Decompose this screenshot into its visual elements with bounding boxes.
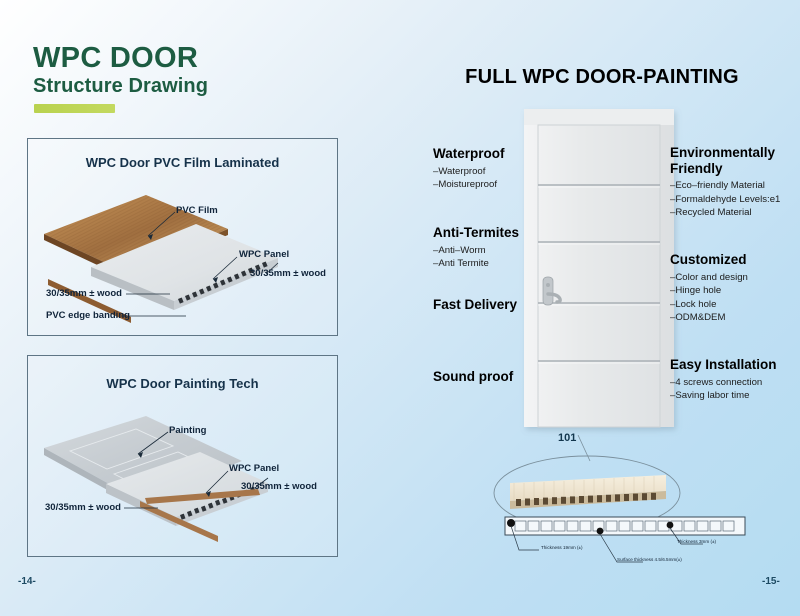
panel-pvc-film-laminated: WPC Door PVC Film Laminated — [27, 138, 338, 336]
feature-fast-delivery: Fast Delivery — [433, 297, 517, 313]
cross-section-strip — [495, 512, 775, 582]
feature-waterproof: Waterproof –Waterproof –Moistureproof — [433, 146, 505, 192]
feature-item: –Saving labor time — [670, 389, 777, 403]
feature-item: –ODM&DEM — [670, 311, 748, 325]
feature-item: –Recycled Material — [670, 206, 780, 220]
feature-item: –Waterproof — [433, 165, 505, 179]
label-thickness-right-2: 30/35mm ± wood — [241, 481, 317, 492]
label-wpc-panel: WPC Panel — [239, 249, 289, 260]
feature-heading: Easy Installation — [670, 357, 777, 373]
feature-item: –Formaldehyde Levels:e1 — [670, 193, 780, 207]
label-thickness-19mm: Thickness 19mm (±) — [541, 545, 583, 550]
label-thickness-left: 30/35mm ± wood — [46, 288, 122, 299]
feature-anti-termites: Anti-Termites –Anti–Worm –Anti Termite — [433, 225, 519, 271]
panel-1-title: WPC Door PVC Film Laminated — [28, 155, 337, 170]
left-page: WPC DOOR Structure Drawing WPC Door PVC … — [0, 0, 400, 616]
page-title-sub: Structure Drawing — [33, 76, 208, 96]
panel-2-title: WPC Door Painting Tech — [28, 376, 337, 391]
right-page: FULL WPC DOOR-PAINTING — [400, 0, 800, 616]
feature-heading: Customized — [670, 252, 748, 268]
feature-easy-installation: Easy Installation –4 screws connection –… — [670, 357, 777, 403]
feature-item: –Anti Termite — [433, 257, 519, 271]
feature-item: –4 screws connection — [670, 376, 777, 390]
label-thickness-left-2: 30/35mm ± wood — [45, 502, 121, 513]
label-wpc-panel-2: WPC Panel — [229, 463, 279, 474]
label-painting: Painting — [169, 425, 206, 436]
feature-item: –Anti–Worm — [433, 244, 519, 258]
feature-heading: Environmentally Friendly — [670, 145, 780, 176]
page-title-main: WPC DOOR — [33, 44, 198, 73]
label-thickness-3mm: Thickness 3mm (±) — [677, 539, 716, 544]
feature-item: –Hinge hole — [670, 284, 748, 298]
page-number-right: -15- — [762, 576, 780, 587]
feature-environmentally-friendly: Environmentally Friendly –Eco–friendly M… — [670, 145, 780, 220]
right-page-title: FULL WPC DOOR-PAINTING — [462, 66, 742, 89]
feature-heading: Fast Delivery — [433, 297, 517, 313]
label-thickness-right: 30/35mm ± wood — [250, 268, 326, 279]
feature-item: –Moistureproof — [433, 178, 505, 192]
feature-heading: Anti-Termites — [433, 225, 519, 241]
feature-heading: Sound proof — [433, 369, 513, 385]
accent-bar — [34, 104, 115, 113]
feature-heading: Waterproof — [433, 146, 505, 162]
page-number-left: -14- — [18, 576, 36, 587]
feature-item: –Color and design — [670, 271, 748, 285]
feature-item: –Lock hole — [670, 298, 748, 312]
label-surface-thickness: Surface thickness 4.5/6.5mm(±) — [617, 557, 682, 562]
brochure-page: WPC DOOR Structure Drawing WPC Door PVC … — [0, 0, 800, 616]
feature-customized: Customized –Color and design –Hinge hole… — [670, 252, 748, 325]
feature-sound-proof: Sound proof — [433, 369, 513, 385]
feature-item: –Eco–friendly Material — [670, 179, 780, 193]
label-pvc-film: PVC Film — [176, 205, 218, 216]
panel-painting-tech: WPC Door Painting Tech — [27, 355, 338, 557]
label-pvc-edge-banding: PVC edge banding — [46, 310, 130, 321]
